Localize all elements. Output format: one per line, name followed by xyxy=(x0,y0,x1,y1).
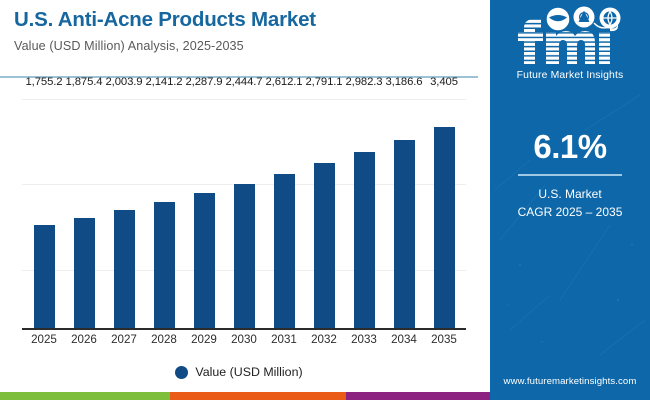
bottom-color-strip xyxy=(0,392,490,400)
x-axis-tick: 2031 xyxy=(266,333,302,346)
bar-group: 1,755.2 xyxy=(26,92,62,328)
chart-panel: U.S. Anti-Acne Products Market Value (US… xyxy=(0,0,478,400)
bar-group: 2,141.2 xyxy=(146,92,182,328)
website-url: www.futuremarketinsights.com xyxy=(490,376,650,387)
bar-group: 2,287.9 xyxy=(186,92,222,328)
globe-badge-icon xyxy=(548,9,569,30)
bar[interactable]: 3,405 xyxy=(434,127,455,328)
bar[interactable]: 2,612.1 xyxy=(274,174,295,328)
x-axis-line xyxy=(22,328,466,330)
fmi-wordmark-icon xyxy=(502,6,638,68)
x-axis-tick: 2032 xyxy=(306,333,342,346)
bar[interactable]: 1,755.2 xyxy=(34,225,55,329)
logo-tagline: Future Market Insights xyxy=(490,70,650,81)
x-axis-tick: 2028 xyxy=(146,333,182,346)
bar-group: 2,003.9 xyxy=(106,92,142,328)
bar-group: 3,405 xyxy=(426,92,462,328)
x-axis-tick: 2030 xyxy=(226,333,262,346)
bar-group: 3,186.6 xyxy=(386,92,422,328)
bar[interactable]: 2,982.3 xyxy=(354,152,375,328)
x-axis-tick: 2025 xyxy=(26,333,62,346)
bar-group: 2,982.3 xyxy=(346,92,382,328)
bar-value-label: 2,141.2 xyxy=(146,76,183,88)
x-axis-tick: 2026 xyxy=(66,333,102,346)
bar[interactable]: 2,003.9 xyxy=(114,210,135,328)
x-axis-tick: 2035 xyxy=(426,333,462,346)
brand-panel: Future Market Insights 6.1% U.S. Market … xyxy=(490,0,650,400)
globe-badge-icon xyxy=(574,7,595,28)
x-axis-tick: 2033 xyxy=(346,333,382,346)
chart-subtitle: Value (USD Million) Analysis, 2025-2035 xyxy=(14,39,464,53)
cagr-period-label: CAGR 2025 – 2035 xyxy=(490,203,650,222)
bar-value-label: 2,287.9 xyxy=(186,76,223,88)
bar[interactable]: 2,791.1 xyxy=(314,163,335,328)
infographic-chart-card: U.S. Anti-Acne Products Market Value (US… xyxy=(0,0,650,400)
color-strip-segment-orange xyxy=(170,392,346,400)
bar-value-label: 1,875.4 xyxy=(66,76,103,88)
bar-value-label: 2,982.3 xyxy=(346,76,383,88)
bar-value-label: 3,405 xyxy=(430,76,458,88)
x-axis-labels: 2025202620272028202920302031203220332034… xyxy=(22,333,466,346)
globe-badge-icon xyxy=(600,8,621,29)
bar-value-label: 2,791.1 xyxy=(306,76,343,88)
x-axis-tick: 2029 xyxy=(186,333,222,346)
cagr-divider xyxy=(518,174,622,176)
bar-group: 1,875.4 xyxy=(66,92,102,328)
bar-series: 1,755.21,875.42,003.92,141.22,287.92,444… xyxy=(22,92,466,328)
cagr-value: 6.1% xyxy=(490,130,650,163)
bar[interactable]: 1,875.4 xyxy=(74,218,95,329)
bar-group: 2,444.7 xyxy=(226,92,262,328)
legend-label: Value (USD Million) xyxy=(195,365,302,379)
chart-legend: Value (USD Million) xyxy=(0,365,478,379)
bar[interactable]: 3,186.6 xyxy=(394,140,415,328)
cagr-market-label: U.S. Market xyxy=(490,185,650,204)
cagr-block: 6.1% U.S. Market CAGR 2025 – 2035 xyxy=(490,130,650,222)
chart-title: U.S. Anti-Acne Products Market xyxy=(14,8,464,32)
bar-value-label: 2,003.9 xyxy=(106,76,143,88)
bar-value-label: 1,755.2 xyxy=(26,76,63,88)
plot-area: 1,755.21,875.42,003.92,141.22,287.92,444… xyxy=(14,92,466,330)
bar-value-label: 3,186.6 xyxy=(386,76,423,88)
bar[interactable]: 2,287.9 xyxy=(194,193,215,328)
color-strip-segment-purple xyxy=(346,392,490,400)
legend-marker-icon xyxy=(175,366,188,379)
x-axis-tick: 2027 xyxy=(106,333,142,346)
bar[interactable]: 2,141.2 xyxy=(154,202,175,329)
chart-header: U.S. Anti-Acne Products Market Value (US… xyxy=(14,8,464,53)
x-axis-tick: 2034 xyxy=(386,333,422,346)
fmi-logo: Future Market Insights xyxy=(490,6,650,81)
bar-value-label: 2,612.1 xyxy=(266,76,303,88)
bar-value-label: 2,444.7 xyxy=(226,76,263,88)
bar[interactable]: 2,444.7 xyxy=(234,184,255,329)
bar-group: 2,612.1 xyxy=(266,92,302,328)
bar-group: 2,791.1 xyxy=(306,92,342,328)
color-strip-segment-green xyxy=(0,392,170,400)
